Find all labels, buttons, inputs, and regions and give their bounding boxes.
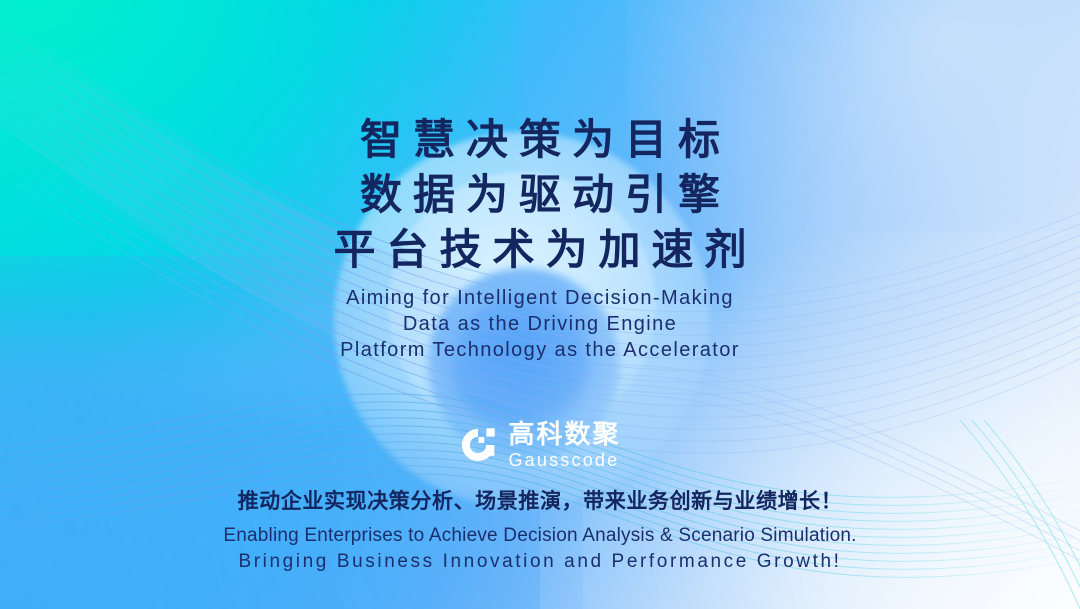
footer-block: 推动企业实现决策分析、场景推演，带来业务创新与业绩增长！ Enabling En… (223, 487, 856, 575)
headline-line-3: 平台技术为加速剂 (322, 222, 757, 277)
brand-logo: 高科数聚 Gausscode (459, 421, 620, 469)
headline-line-2: 数据为驱动引擎 (322, 167, 757, 222)
subheadline-block: Aiming for Intelligent Decision-Making D… (340, 285, 740, 363)
subheadline-line-1: Aiming for Intelligent Decision-Making (340, 285, 740, 311)
brand-wordmark: 高科数聚 Gausscode (508, 421, 620, 469)
gausscode-g-icon (459, 426, 497, 464)
footer-tagline-cn: 推动企业实现决策分析、场景推演，带来业务创新与业绩增长！ (223, 487, 856, 517)
poster-canvas: 智慧决策为目标 数据为驱动引擎 平台技术为加速剂 Aiming for Inte… (0, 0, 1080, 609)
brand-name-en: Gausscode (508, 451, 620, 469)
headline-line-1: 智慧决策为目标 (322, 112, 757, 167)
footer-tagline-en-line-1: Enabling Enterprises to Achieve Decision… (223, 523, 856, 549)
poster-content: 智慧决策为目标 数据为驱动引擎 平台技术为加速剂 Aiming for Inte… (0, 0, 1080, 609)
headline-block: 智慧决策为目标 数据为驱动引擎 平台技术为加速剂 (322, 112, 757, 277)
subheadline-line-2: Data as the Driving Engine (340, 311, 740, 337)
subheadline-line-3: Platform Technology as the Accelerator (340, 337, 740, 363)
brand-name-cn: 高科数聚 (508, 421, 620, 447)
footer-tagline-en-line-2: Bringing Business Innovation and Perform… (223, 549, 856, 575)
